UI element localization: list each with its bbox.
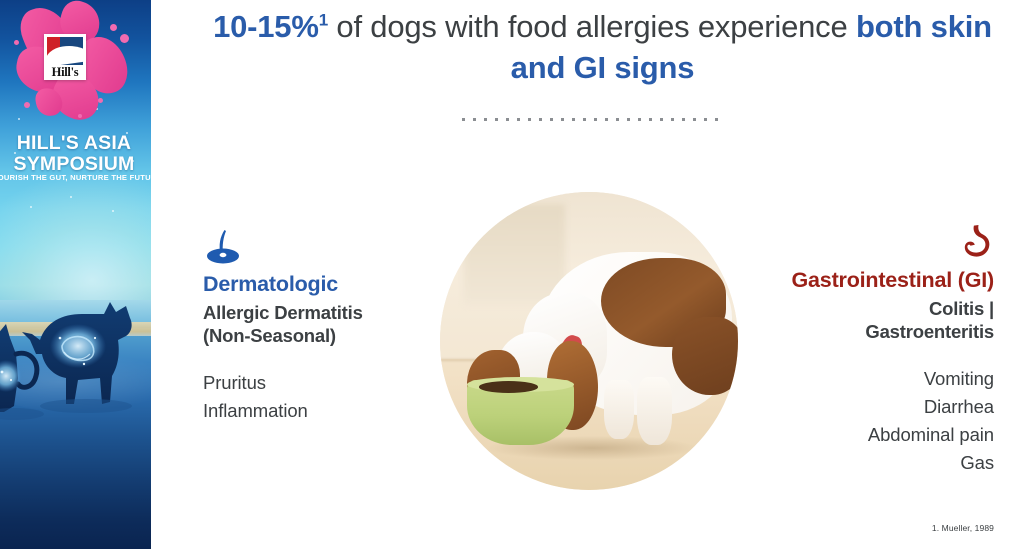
dotted-divider (462, 118, 718, 121)
slide-root: Hill's HILL'S ASIA SYMPOSIUM NOURISH THE… (0, 0, 1024, 549)
list-item: Inflammation (203, 397, 435, 425)
list-item: Pruritus (203, 369, 435, 397)
dog-silhouette (22, 302, 132, 404)
headline-stat: 10-15% (213, 9, 319, 44)
gastrointestinal-subtitle: Colitis | Gastroenteritis (732, 297, 994, 343)
gastrointestinal-subtitle-line2: Gastroenteritis (732, 320, 994, 343)
stomach-icon (954, 222, 994, 262)
headline-superscript: 1 (319, 11, 328, 30)
list-item: Abdominal pain (732, 421, 994, 449)
dog-eating-photo (440, 192, 738, 490)
list-item: Diarrhea (732, 393, 994, 421)
gastrointestinal-title: Gastrointestinal (GI) (732, 268, 994, 293)
hills-logo: Hill's (44, 34, 86, 80)
dermatologic-symptom-list: Pruritus Inflammation (203, 369, 435, 425)
dermatologic-title: Dermatologic (203, 272, 435, 297)
dermatologic-subtitle: Allergic Dermatitis (Non-Seasonal) (203, 301, 435, 347)
gastrointestinal-subtitle-line1: Colitis | (732, 297, 994, 320)
headline: 10-15%1 of dogs with food allergies expe… (205, 6, 1000, 88)
list-item: Gas (732, 449, 994, 477)
gastrointestinal-symptom-list: Vomiting Diarrhea Abdominal pain Gas (732, 365, 994, 477)
headline-middle: of dogs with food allergies experience (328, 9, 856, 44)
pet-silhouette-illustration (0, 280, 151, 470)
hills-logo-mark (47, 37, 83, 65)
hills-logo-wordmark: Hill's (44, 65, 86, 80)
footnote-reference: 1. Mueller, 1989 (932, 523, 994, 533)
list-item: Vomiting (732, 365, 994, 393)
dermatologic-subtitle-line1: Allergic Dermatitis (203, 301, 435, 324)
gastrointestinal-column: Gastrointestinal (GI) Colitis | Gastroen… (732, 222, 994, 477)
symposium-title: HILL'S ASIA SYMPOSIUM (0, 133, 151, 175)
dermatologic-subtitle-line2: (Non-Seasonal) (203, 324, 435, 347)
brand-sidebar: Hill's HILL'S ASIA SYMPOSIUM NOURISH THE… (0, 0, 151, 549)
hair-follicle-icon (203, 228, 243, 266)
dermatologic-column: Dermatologic Allergic Dermatitis (Non-Se… (203, 228, 435, 425)
symposium-tagline: NOURISH THE GUT, NURTURE THE FUTURE. (0, 173, 151, 183)
